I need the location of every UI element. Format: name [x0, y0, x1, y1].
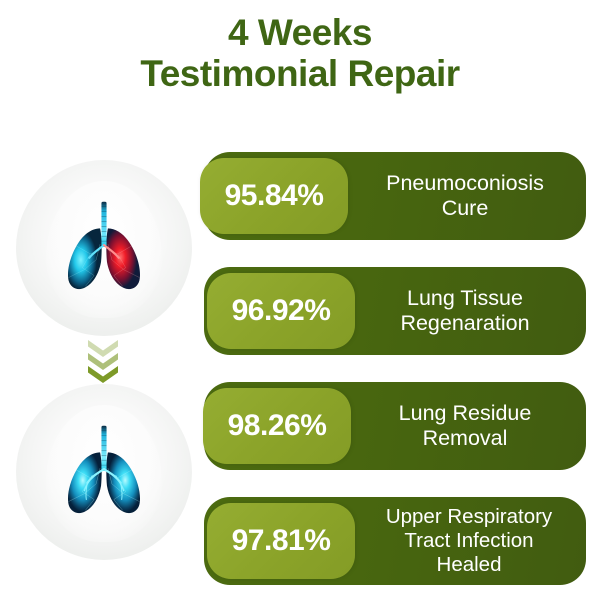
lungs-before-figure: [16, 160, 192, 336]
lungs-after-figure: [16, 384, 192, 560]
stat-percent-value: 95.84%: [225, 179, 324, 213]
chevron-down-icon: [88, 340, 118, 357]
stat-label: Lung Residue Removal: [356, 401, 574, 451]
lung-comparison-illustration: [8, 160, 198, 580]
stat-label: Lung Tissue Regenaration: [356, 286, 574, 336]
lungs-diseased-icon: [45, 189, 163, 307]
stats-list: Pneumoconiosis Cure 95.84% Lung Tissue R…: [196, 152, 592, 585]
page-title-line-1: 4 Weeks: [0, 12, 600, 53]
stat-row[interactable]: Upper Respiratory Tract Infection Healed…: [196, 497, 592, 585]
stat-percent-value: 98.26%: [228, 409, 327, 443]
stat-label: Pneumoconiosis Cure: [356, 171, 574, 221]
stat-row[interactable]: Lung Tissue Regenaration 96.92%: [196, 267, 592, 355]
stat-percent-value: 96.92%: [232, 294, 331, 328]
stat-percent-value: 97.81%: [232, 524, 331, 558]
stat-percent-pill: 97.81%: [207, 503, 355, 579]
page-title-line-2: Testimonial Repair: [0, 53, 600, 94]
stat-percent-pill: 96.92%: [207, 273, 355, 349]
stat-row[interactable]: Lung Residue Removal 98.26%: [196, 382, 592, 470]
stat-label: Upper Respiratory Tract Infection Healed: [364, 505, 574, 577]
stat-percent-pill: 98.26%: [203, 388, 351, 464]
lungs-healthy-icon: [45, 413, 163, 531]
page-title: 4 Weeks Testimonial Repair: [0, 12, 600, 95]
stat-percent-pill: 95.84%: [200, 158, 348, 234]
stat-row[interactable]: Pneumoconiosis Cure 95.84%: [196, 152, 592, 240]
chevron-down-stack-icon: [8, 340, 198, 386]
